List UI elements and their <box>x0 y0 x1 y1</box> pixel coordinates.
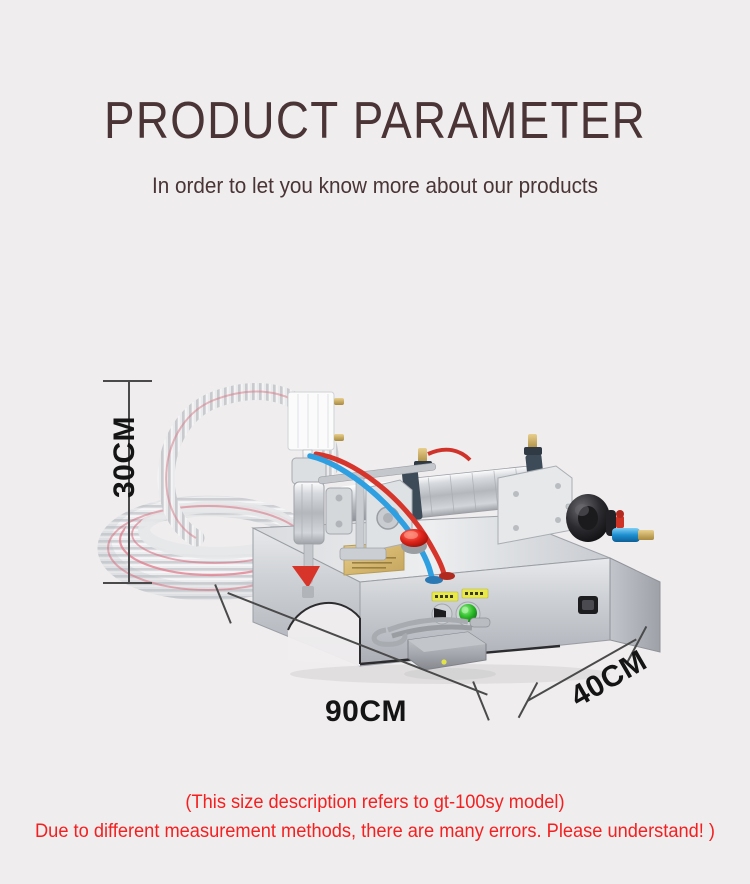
height-dimension-label: 30CM <box>108 416 142 498</box>
black-adjustment-handwheel <box>566 494 616 542</box>
header: PRODUCT PARAMETER In order to let you kn… <box>0 0 750 200</box>
power-socket <box>578 596 598 614</box>
disclaimer-line-measurement: Due to different measurement methods, th… <box>15 817 735 846</box>
page-subtitle: In order to let you know more about our … <box>23 150 728 200</box>
product-parameter-page: PRODUCT PARAMETER In order to let you kn… <box>0 0 750 884</box>
disclaimer-line-model: (This size description refers to gt-100s… <box>15 788 735 817</box>
height-dimension-tick-top <box>103 380 152 382</box>
machine-illustration-stage: 30CM 90CM 40CM <box>0 330 750 760</box>
red-emergency-stop-button <box>400 529 428 554</box>
size-disclaimer-notes: (This size description refers to gt-100s… <box>0 788 750 846</box>
page-title: PRODUCT PARAMETER <box>45 0 705 150</box>
blue-air-fitting <box>612 510 654 542</box>
length-dimension-label: 90CM <box>325 695 407 729</box>
height-dimension-tick-bottom <box>103 582 152 584</box>
